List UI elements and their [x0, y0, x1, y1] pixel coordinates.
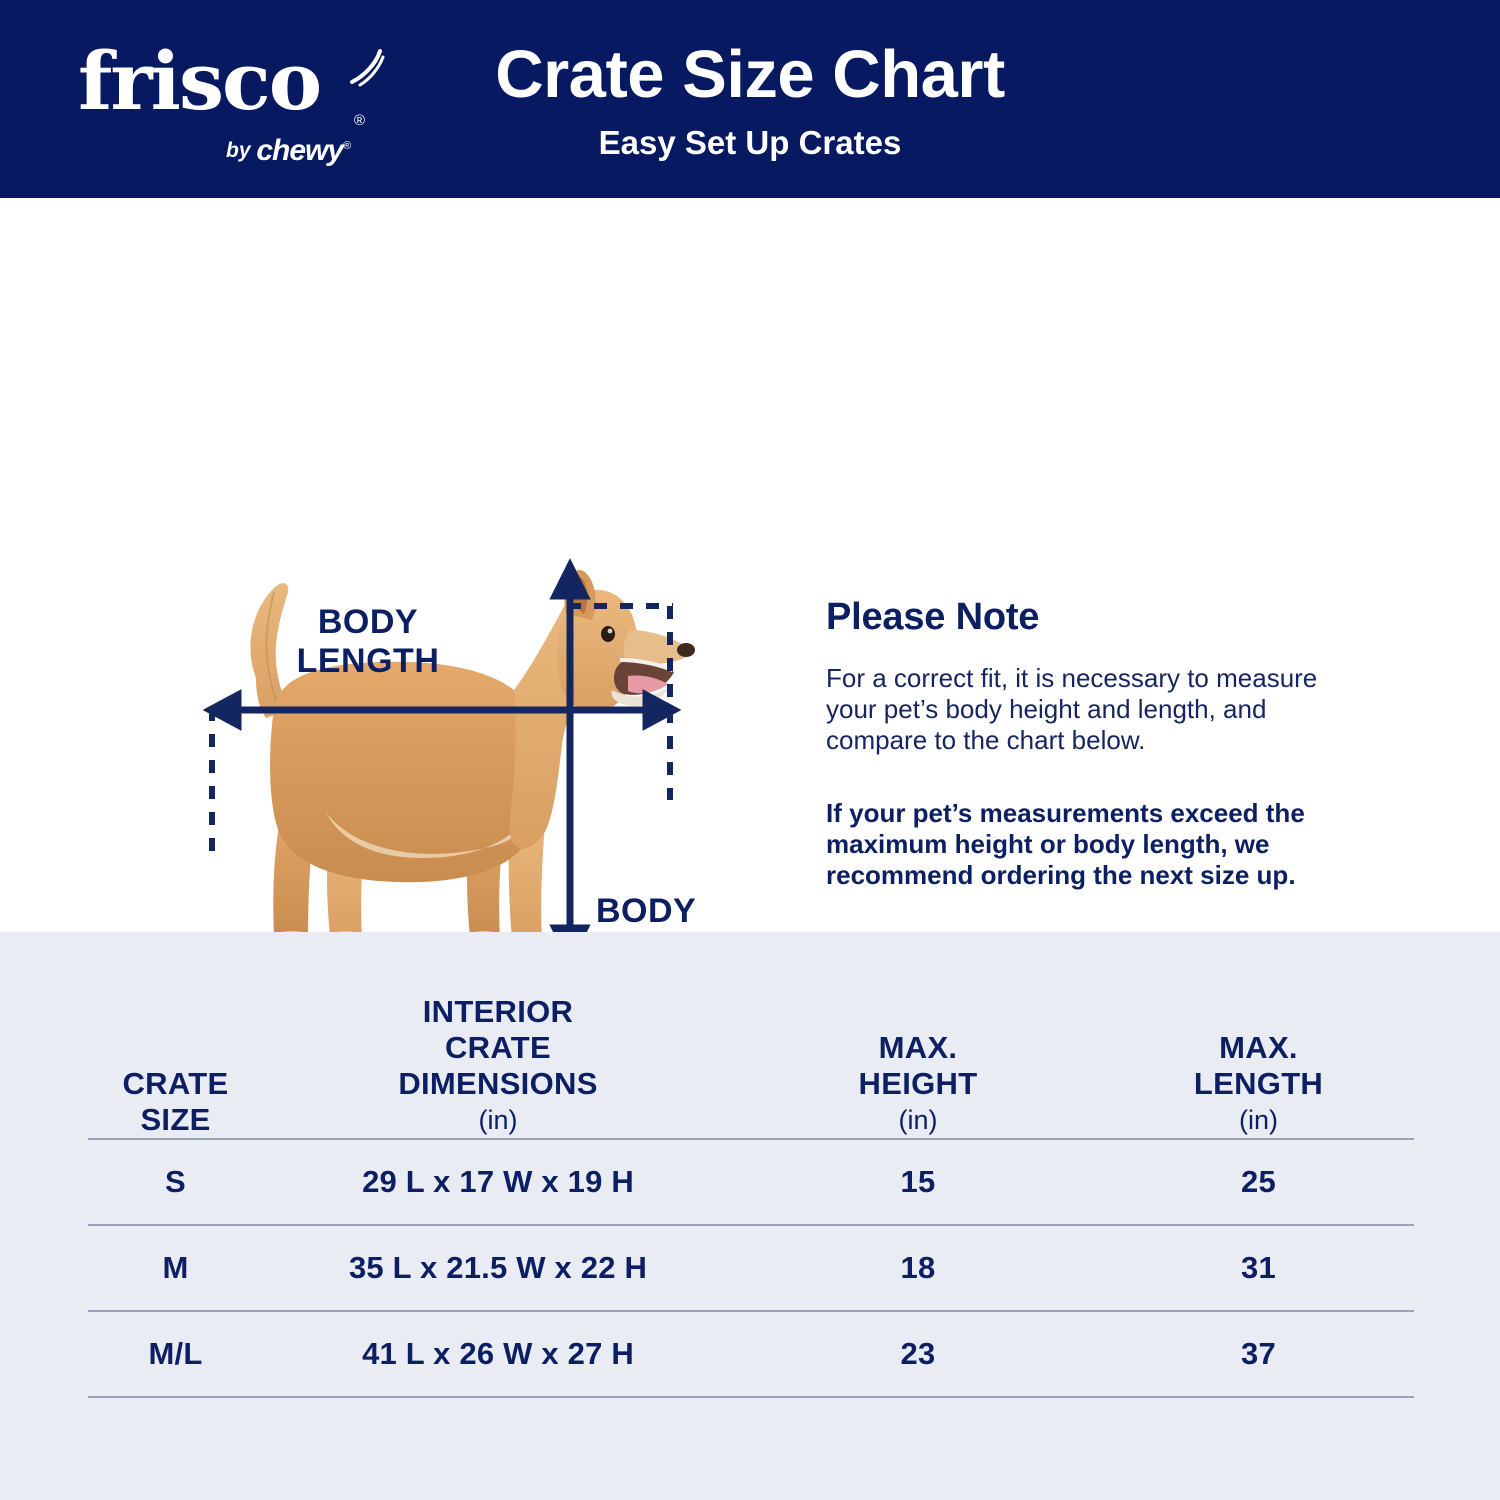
table-header-row: CRATE SIZE INTERIOR CRATE DIMENSIONS (in… [88, 980, 1414, 1138]
cell-max-length: 31 [1103, 1250, 1414, 1286]
cell-max-height: 15 [733, 1164, 1103, 1200]
cell-crate-size: M/L [88, 1336, 263, 1372]
cell-max-length: 37 [1103, 1336, 1414, 1372]
column-header-crate-size-line2: SIZE [140, 1102, 210, 1137]
size-chart-table: CRATE SIZE INTERIOR CRATE DIMENSIONS (in… [88, 980, 1414, 1398]
column-header-interior-dimensions: INTERIOR CRATE DIMENSIONS (in) [263, 994, 733, 1138]
column-header-max-length: MAX. LENGTH (in) [1103, 1030, 1414, 1138]
cell-max-height: 18 [733, 1250, 1103, 1286]
column-header-crate-size: CRATE SIZE [88, 1066, 263, 1138]
column-header-interior-line2: CRATE [445, 1030, 551, 1065]
column-header-max-length-unit: (in) [1103, 1102, 1414, 1138]
column-header-interior-line3: DIMENSIONS [398, 1066, 597, 1101]
column-header-interior-line1: INTERIOR [423, 994, 574, 1029]
page-header: frisco ® by chewy® Crate Size Chart Easy… [0, 0, 1500, 198]
column-header-max-height-line1: MAX. [879, 1030, 958, 1065]
column-header-crate-size-line1: CRATE [123, 1066, 229, 1101]
cell-dimensions: 35 L x 21.5 W x 22 H [263, 1250, 733, 1286]
column-header-max-height-unit: (in) [733, 1102, 1103, 1138]
column-header-max-length-line1: MAX. [1219, 1030, 1298, 1065]
table-row: M/L 41 L x 26 W x 27 H 23 37 [88, 1312, 1414, 1396]
please-note-paragraph-2: If your pet’s measurements exceed the ma… [826, 798, 1346, 891]
cell-dimensions: 41 L x 26 W x 27 H [263, 1336, 733, 1372]
body-length-label-line1: BODY [318, 603, 418, 641]
please-note-heading: Please Note [826, 596, 1346, 639]
please-note-paragraph-1: For a correct fit, it is necessary to me… [826, 663, 1346, 756]
column-header-interior-unit: (in) [263, 1102, 733, 1138]
table-rule [88, 1396, 1414, 1398]
please-note-block: Please Note For a correct fit, it is nec… [826, 596, 1346, 891]
page-title: Crate Size Chart [0, 36, 1500, 113]
page-subtitle: Easy Set Up Crates [0, 124, 1500, 162]
cell-crate-size: M [88, 1250, 263, 1286]
table-row: S 29 L x 17 W x 19 H 15 25 [88, 1140, 1414, 1224]
cell-max-length: 25 [1103, 1164, 1414, 1200]
column-header-max-height-line2: HEIGHT [859, 1066, 978, 1101]
body-height-label-line1: BODY [596, 892, 696, 930]
cell-dimensions: 29 L x 17 W x 19 H [263, 1164, 733, 1200]
size-chart-section: CRATE SIZE INTERIOR CRATE DIMENSIONS (in… [0, 932, 1500, 1500]
column-header-max-height: MAX. HEIGHT (in) [733, 1030, 1103, 1138]
cell-max-height: 23 [733, 1336, 1103, 1372]
illustration-section: BODY LENGTH BODY HEIGHT Please Note For … [0, 198, 1500, 932]
cell-crate-size: S [88, 1164, 263, 1200]
table-row: M 35 L x 21.5 W x 22 H 18 31 [88, 1226, 1414, 1310]
body-length-label-line2: LENGTH [297, 642, 440, 680]
column-header-max-length-line2: LENGTH [1194, 1066, 1323, 1101]
body-length-label: BODY LENGTH [258, 603, 478, 681]
